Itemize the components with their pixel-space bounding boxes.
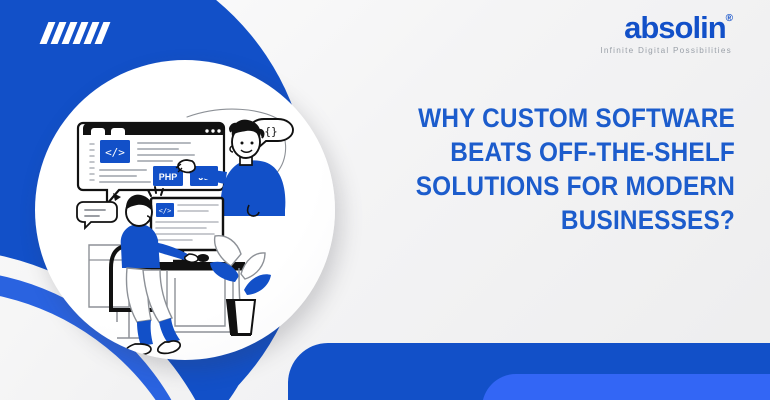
slash-decoration: [44, 22, 106, 44]
headline-line-4: BUSINESSES?: [395, 203, 735, 237]
promo-banner: </> PHP JS {}: [0, 0, 770, 400]
code-badge-label: </>: [105, 146, 125, 159]
monitor-code-badge: </>: [159, 207, 172, 215]
brand-name: absolin®: [624, 12, 732, 43]
illustration-circle: </> PHP JS {}: [35, 60, 335, 360]
small-speech-bubble: [77, 202, 117, 228]
headline-line-1: WHY CUSTOM SOFTWARE: [395, 101, 735, 135]
headline: WHY CUSTOM SOFTWARE BEATS OFF-THE-SHELF …: [395, 101, 735, 237]
headline-line-2: BEATS OFF-THE-SHELF: [395, 135, 735, 169]
headline-line-3: SOLUTIONS FOR MODERN: [395, 169, 735, 203]
potted-plant: [210, 236, 271, 336]
brand-name-text: absolin: [624, 10, 726, 45]
brand-logo[interactable]: absolin® Infinite Digital Possibilities: [600, 12, 732, 55]
brand-tagline: Infinite Digital Possibilities: [600, 46, 732, 55]
browser-window: </> PHP JS: [78, 123, 224, 204]
curly-braces-label: {}: [264, 125, 277, 138]
cursor-mark: [113, 193, 121, 201]
bottom-bar-light: [482, 374, 770, 400]
developer-illustration: </> PHP JS {}: [35, 60, 335, 360]
php-badge-label: PHP: [159, 172, 178, 182]
registered-trademark-icon: ®: [726, 13, 732, 24]
